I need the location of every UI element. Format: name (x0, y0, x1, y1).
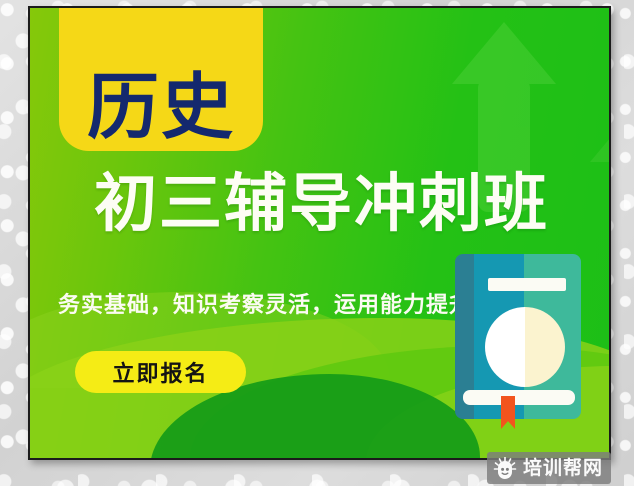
enroll-now-label: 立即报名 (112, 356, 208, 388)
site-watermark-label: 培训帮网 (523, 459, 603, 478)
book-pages-edge (463, 390, 575, 405)
site-watermark: 培训帮网 (487, 452, 611, 484)
arrow-head (452, 22, 556, 84)
subject-badge-label: 历史 (87, 71, 235, 143)
subject-badge: 历史 (59, 6, 263, 151)
banner-subtitle: 务实基础，知识考察灵活，运用能力提升 (30, 287, 500, 319)
course-promo-banner: 历史 初三辅导冲刺班 务实基础，知识考察灵活，运用能力提升 立即报名 (28, 6, 611, 460)
textbook-illustration (455, 254, 581, 419)
smiley-sun-icon (493, 457, 517, 479)
arrow-head (590, 100, 611, 162)
book-title-bar (488, 278, 566, 291)
banner-headline: 初三辅导冲刺班 (30, 171, 611, 237)
enroll-now-button[interactable]: 立即报名 (75, 351, 246, 393)
